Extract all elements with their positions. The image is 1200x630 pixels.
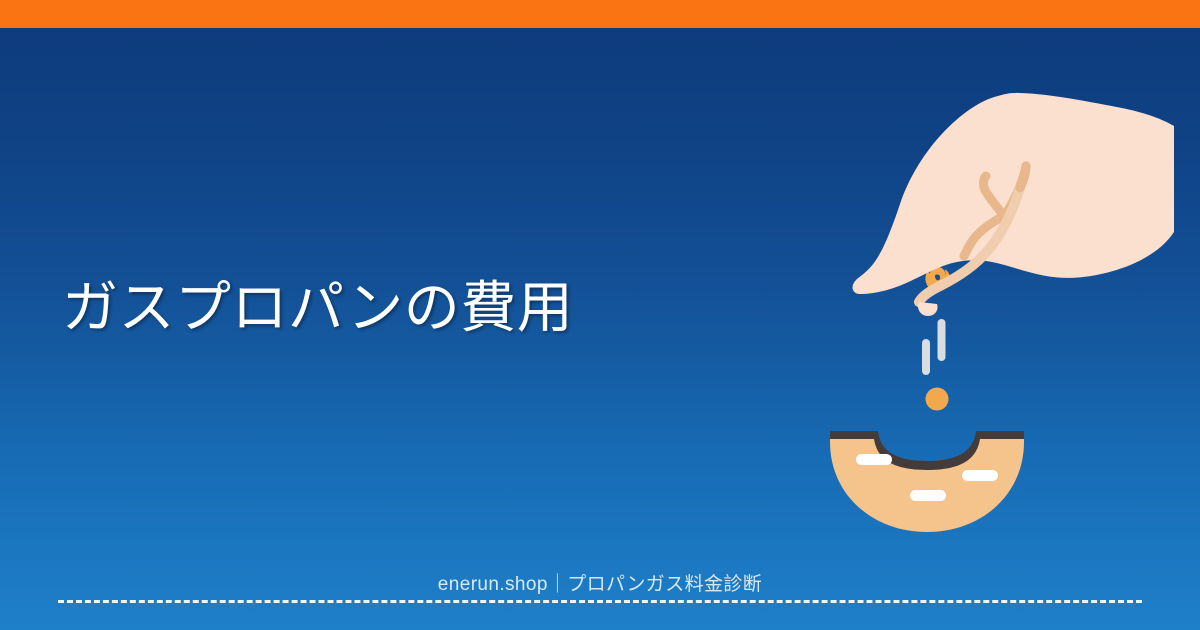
hand-coin-bowl-illustration: [780, 80, 1200, 550]
bowl-body: [830, 436, 1024, 532]
footer-text: enerun.shop｜プロパンガス料金診断: [0, 572, 1200, 598]
bowl-highlight-left: [856, 454, 892, 465]
page-title: ガスプロパンの費用: [62, 272, 682, 344]
motion-line-short-icon: [922, 339, 930, 375]
bowl-highlight-right: [962, 470, 998, 481]
footer: enerun.shop｜プロパンガス料金診断: [0, 572, 1200, 618]
coin-falling-icon: [926, 388, 949, 411]
footer-divider: [58, 600, 1142, 603]
motion-line-tall-icon: [938, 319, 946, 361]
hand-icon: [853, 93, 1174, 316]
hand-fingertip: [918, 302, 938, 316]
bowl-highlight-center: [910, 490, 946, 501]
og-card: ガスプロパンの費用: [0, 0, 1200, 630]
top-accent-bar: [0, 0, 1200, 28]
bowl-icon: [830, 431, 1024, 532]
